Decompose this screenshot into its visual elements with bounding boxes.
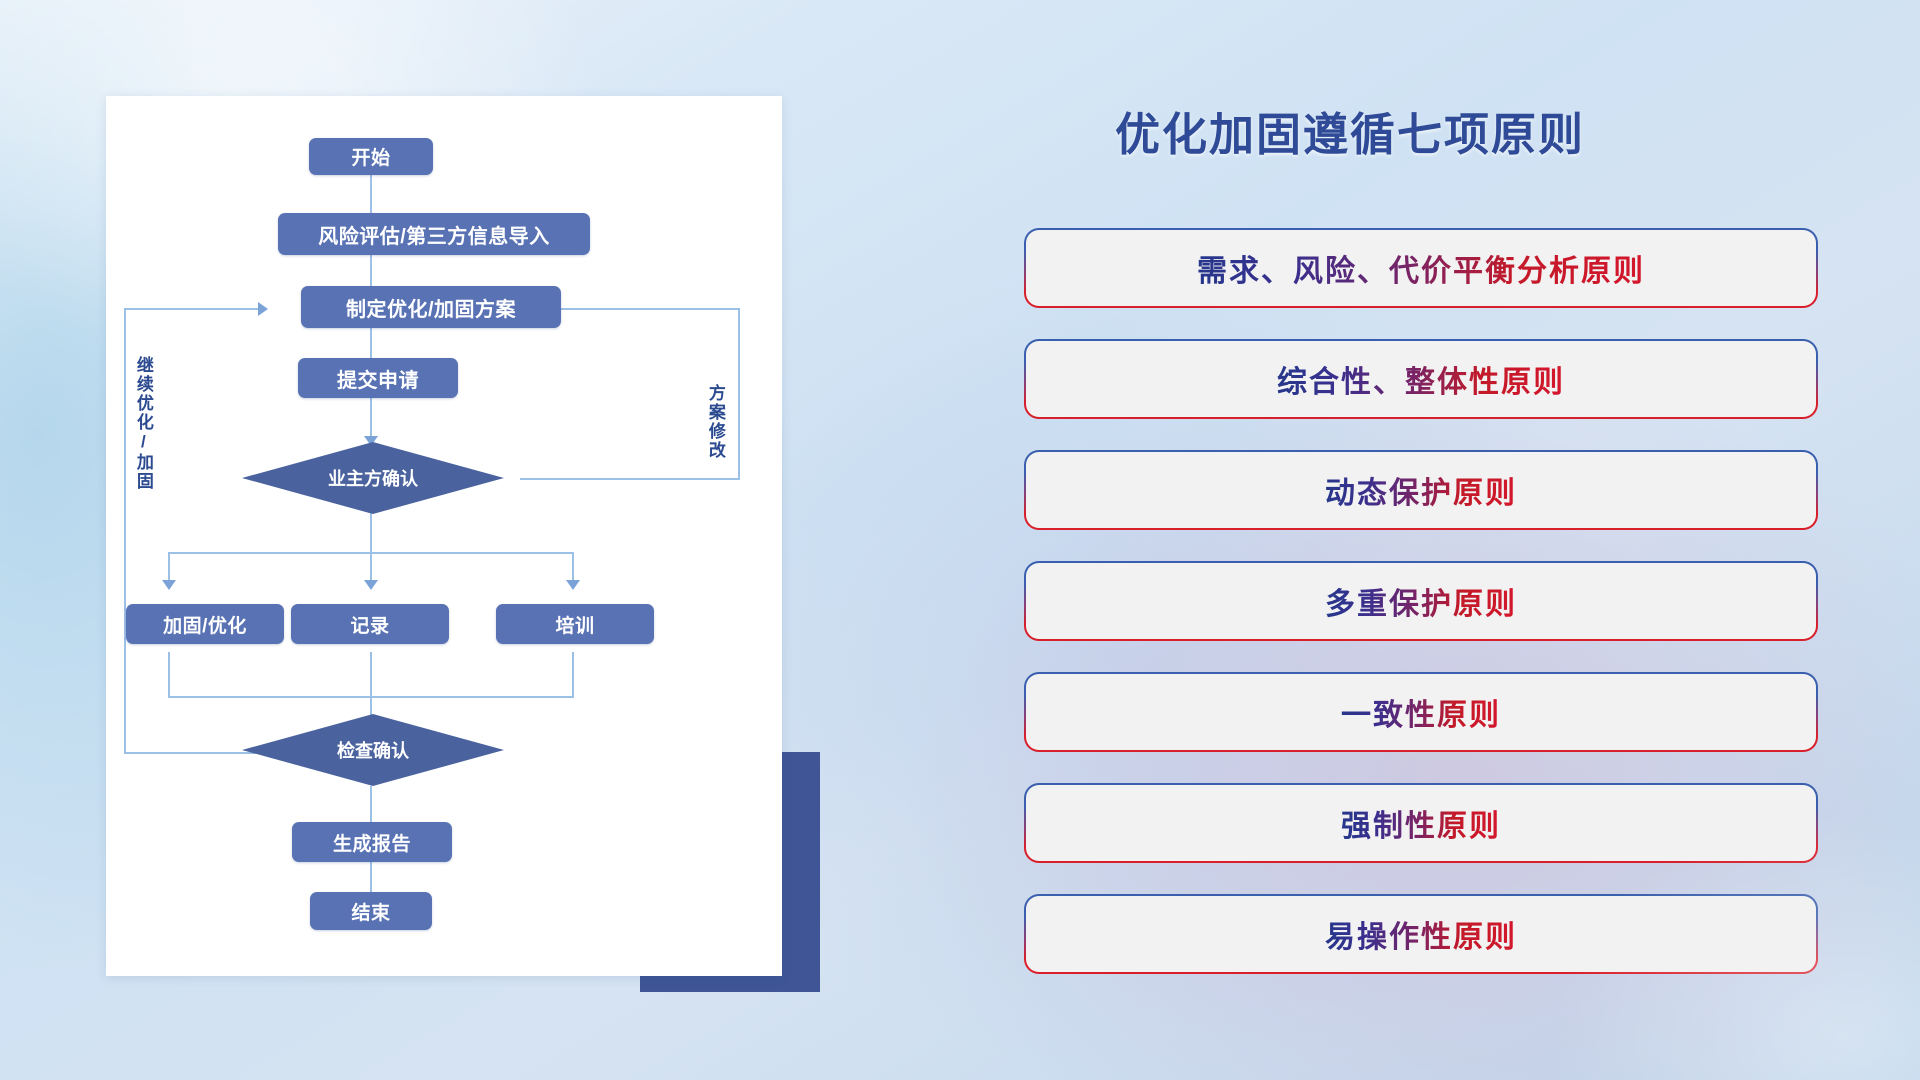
principle-card-2[interactable]: 综合性、整体性原则 <box>1026 341 1816 417</box>
flow-node-record[interactable]: 记录 <box>291 604 449 644</box>
edge-label-plan-revision: 方案修改 <box>706 384 724 460</box>
principle-card-label: 易操作性原则 <box>1325 912 1517 956</box>
edge-label-continue-optimize: 继续优化/加固 <box>134 356 152 491</box>
connector-merge-left <box>168 652 170 698</box>
principle-card-3[interactable]: 动态保护原则 <box>1026 452 1816 528</box>
arrow-split-right <box>566 580 580 590</box>
principle-card-label: 综合性、整体性原则 <box>1277 357 1565 401</box>
principle-card-6[interactable]: 强制性原则 <box>1026 785 1816 861</box>
connector-owner-right <box>520 478 740 480</box>
principle-card-1[interactable]: 需求、风险、代价平衡分析原则 <box>1026 230 1816 306</box>
connector-submit-owner <box>370 396 372 440</box>
connector-merge-right <box>572 652 574 698</box>
principle-card-4[interactable]: 多重保护原则 <box>1026 563 1816 639</box>
arrow-split-left <box>162 580 176 590</box>
flowchart-card: 开始 风险评估/第三方信息导入 制定优化/加固方案 提交申请 业主方确认 加固/… <box>106 96 782 976</box>
principle-card-label: 动态保护原则 <box>1325 468 1517 512</box>
principles-title: 优化加固遵循七项原则 <box>1020 98 1680 163</box>
principles-panel: 优化加固遵循七项原则 需求、风险、代价平衡分析原则 综合性、整体性原则 动态保护… <box>1020 90 1820 1020</box>
connector-owner-down <box>370 510 372 554</box>
flow-node-make-plan[interactable]: 制定优化/加固方案 <box>301 286 561 328</box>
flow-node-check-confirm[interactable]: 检查确认 <box>242 714 504 786</box>
flow-node-submit-application[interactable]: 提交申请 <box>298 358 458 398</box>
flow-node-risk-assessment[interactable]: 风险评估/第三方信息导入 <box>278 213 590 255</box>
flow-node-reinforce-optimize[interactable]: 加固/优化 <box>126 604 284 644</box>
flow-node-training[interactable]: 培训 <box>496 604 654 644</box>
principle-card-label: 多重保护原则 <box>1325 579 1517 623</box>
principle-card-label: 强制性原则 <box>1341 801 1501 845</box>
connector-right-up <box>738 308 740 480</box>
principle-card-label: 需求、风险、代价平衡分析原则 <box>1197 246 1645 290</box>
flow-node-start[interactable]: 开始 <box>309 138 433 175</box>
principle-card-7[interactable]: 易操作性原则 <box>1026 896 1816 972</box>
connector-left-to-plan <box>124 308 266 310</box>
principles-card-list: 需求、风险、代价平衡分析原则 综合性、整体性原则 动态保护原则 多重保护原则 一… <box>1026 230 1816 1007</box>
connector-merge-mid <box>370 652 372 724</box>
flow-node-owner-confirm[interactable]: 业主方确认 <box>242 442 504 514</box>
flow-node-generate-report[interactable]: 生成报告 <box>292 822 452 862</box>
arrow-left-loop-into-plan <box>258 302 268 316</box>
principle-card-label: 一致性原则 <box>1341 690 1501 734</box>
flowchart-canvas: 开始 风险评估/第三方信息导入 制定优化/加固方案 提交申请 业主方确认 加固/… <box>106 96 782 976</box>
connector-left-vertical <box>124 308 126 754</box>
flow-node-end[interactable]: 结束 <box>310 892 432 930</box>
principle-card-5[interactable]: 一致性原则 <box>1026 674 1816 750</box>
arrow-split-mid <box>364 580 378 590</box>
